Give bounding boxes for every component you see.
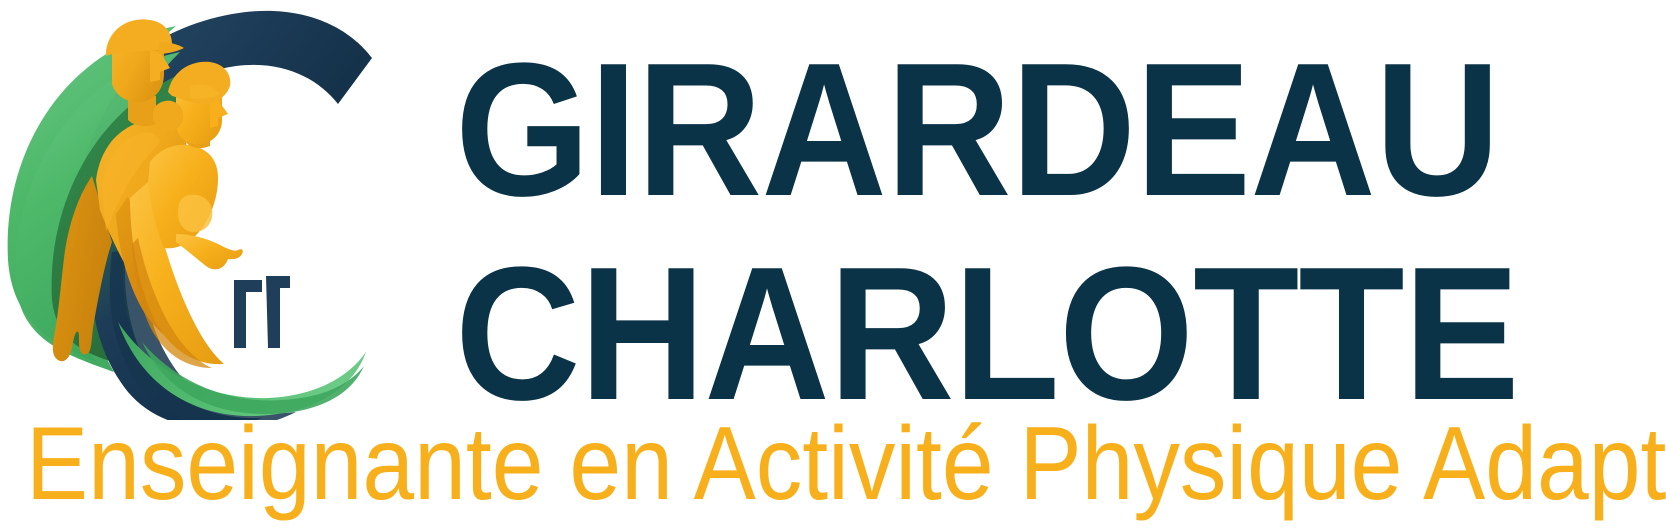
brand-emblem	[0, 0, 380, 420]
walking-frame-cane-icon	[234, 276, 290, 348]
logo-canvas: GIRARDEAU CHARLOTTE Enseignante en Activ…	[0, 0, 1666, 532]
wordmark-surname: GIRARDEAU	[455, 22, 1563, 228]
tagline-text: Enseignante en Activité Physique Adaptée	[26, 408, 1494, 520]
wordmark: GIRARDEAU CHARLOTTE	[455, 22, 1666, 402]
wordmark-firstname: CHARLOTTE	[455, 228, 1563, 432]
tagline: Enseignante en Activité Physique Adaptée	[26, 408, 1666, 528]
